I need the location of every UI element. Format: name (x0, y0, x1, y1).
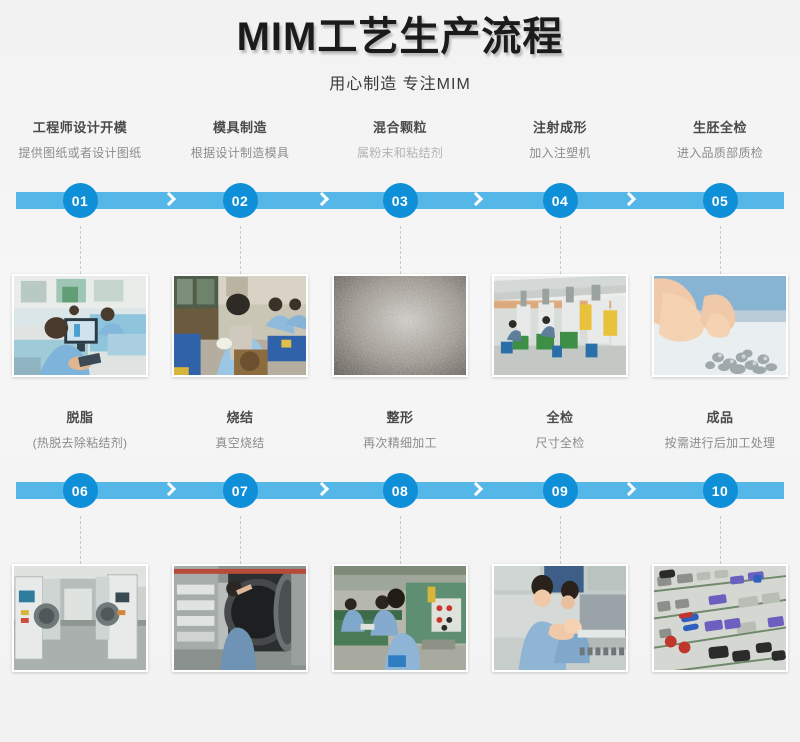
step-number-badge-02: 02 (223, 183, 258, 218)
step-subtitle: 再次精细加工 (320, 436, 480, 452)
step-label-06: 脱脂 (热脱去除粘结剂) (0, 402, 160, 451)
step-subtitle: 根据设计制造模具 (160, 146, 320, 162)
connector-line (400, 226, 401, 274)
connector-line (80, 226, 81, 274)
step-label-03: 混合颗粒 属粉末和粘结剂 (320, 112, 480, 161)
row-1-nodes: 01 02 03 04 05 (0, 174, 800, 226)
step-label-10: 成品 按需进行后加工处理 (640, 402, 800, 451)
connector-line (560, 226, 561, 274)
step-title: 模具制造 (160, 120, 320, 137)
step-number-badge-08: 08 (383, 473, 418, 508)
page-subtitle: 用心制造 专注MIM (0, 70, 800, 94)
row-1-labels: 工程师设计开模 提供图纸或者设计图纸 模具制造 根据设计制造模具 混合颗粒 属粉… (0, 112, 800, 174)
step-title: 烧结 (160, 410, 320, 427)
step-subtitle: 加入注塑机 (480, 146, 640, 162)
step-photo-vacuum-sintering-furnace (172, 564, 308, 672)
step-title: 成品 (640, 410, 800, 427)
step-subtitle: (热脱去除粘结剂) (0, 436, 160, 452)
step-title: 工程师设计开模 (0, 120, 160, 137)
header: MIM工艺生产流程 用心制造 专注MIM (0, 0, 800, 94)
step-number-badge-07: 07 (223, 473, 258, 508)
row-2-nodes: 06 07 08 09 10 (0, 464, 800, 516)
row-2-connectors (0, 516, 800, 564)
step-photo-debinding-furnaces (12, 564, 148, 672)
connector-line (720, 226, 721, 274)
step-label-02: 模具制造 根据设计制造模具 (160, 112, 320, 161)
step-number-badge-06: 06 (63, 473, 98, 508)
step-photo-injection-molding-machines (492, 274, 628, 377)
connector-line (560, 516, 561, 564)
step-label-08: 整形 再次精细加工 (320, 402, 480, 451)
step-label-04: 注射成形 加入注塑机 (480, 112, 640, 161)
step-number-badge-01: 01 (63, 183, 98, 218)
row-1-timeline: 01 02 03 04 05 (0, 174, 800, 226)
step-number-badge-10: 10 (703, 473, 738, 508)
row-2-timeline: 06 07 08 09 10 (0, 464, 800, 516)
step-number-badge-04: 04 (543, 183, 578, 218)
connector-line (720, 516, 721, 564)
step-title: 脱脂 (0, 410, 160, 427)
mim-process-infographic: MIM工艺生产流程 用心制造 专注MIM 工程师设计开模 提供图纸或者设计图纸 … (0, 0, 800, 742)
connector-line (240, 226, 241, 274)
step-photo-workers-dimension-inspection (492, 564, 628, 672)
row-2-photos (0, 564, 800, 676)
step-number-badge-03: 03 (383, 183, 418, 218)
step-subtitle: 按需进行后加工处理 (640, 436, 800, 452)
step-number-badge-05: 05 (703, 183, 738, 218)
step-label-09: 全检 尺寸全检 (480, 402, 640, 451)
step-number-badge-09: 09 (543, 473, 578, 508)
step-title: 生胚全检 (640, 120, 800, 137)
step-title: 整形 (320, 410, 480, 427)
step-photo-mold-machining-workshop (172, 274, 308, 377)
step-label-01: 工程师设计开模 提供图纸或者设计图纸 (0, 112, 160, 161)
row-1-connectors (0, 226, 800, 274)
step-subtitle: 属粉末和粘结剂 (320, 146, 480, 162)
row-1-photos (0, 274, 800, 380)
step-subtitle: 进入品质部质检 (640, 146, 800, 162)
step-subtitle: 尺寸全检 (480, 436, 640, 452)
step-photo-finished-parts-tray (652, 564, 788, 672)
step-photo-engineers-at-computers (12, 274, 148, 377)
connector-line (400, 516, 401, 564)
connector-line (80, 516, 81, 564)
step-label-07: 烧结 真空烧结 (160, 402, 320, 451)
step-label-05: 生胚全检 进入品质部质检 (640, 112, 800, 161)
step-title: 全检 (480, 410, 640, 427)
process-row-2: 脱脂 (热脱去除粘结剂) 烧结 真空烧结 整形 再次精细加工 全检 尺寸全检 成… (0, 402, 800, 676)
step-photo-metal-feedstock-granules (332, 274, 468, 377)
step-photo-finishing-workbench-line (332, 564, 468, 672)
step-photo-hands-inspecting-green-parts (652, 274, 788, 377)
process-row-1: 工程师设计开模 提供图纸或者设计图纸 模具制造 根据设计制造模具 混合颗粒 属粉… (0, 112, 800, 380)
page-title: MIM工艺生产流程 (0, 14, 800, 61)
step-title: 注射成形 (480, 120, 640, 137)
row-2-labels: 脱脂 (热脱去除粘结剂) 烧结 真空烧结 整形 再次精细加工 全检 尺寸全检 成… (0, 402, 800, 464)
connector-line (240, 516, 241, 564)
step-subtitle: 提供图纸或者设计图纸 (0, 146, 160, 162)
step-subtitle: 真空烧结 (160, 436, 320, 452)
step-title: 混合颗粒 (320, 120, 480, 137)
